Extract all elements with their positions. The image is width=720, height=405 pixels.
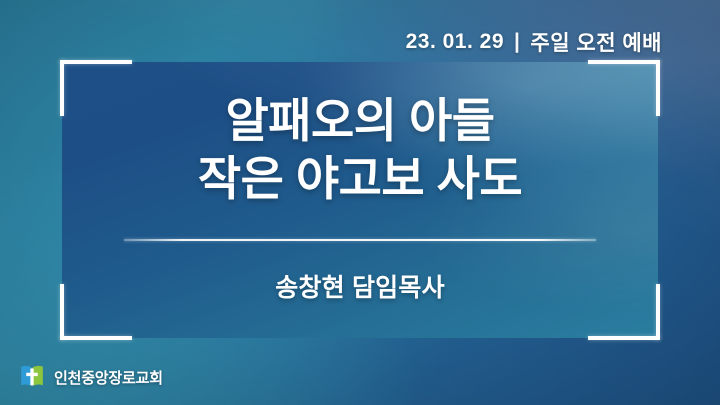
title-line-2: 작은 야고보 사도 (62, 150, 658, 208)
church-name: 인천중앙장로교회 (54, 367, 163, 388)
open-bible-cross-icon (18, 363, 46, 391)
speaker-name: 송창현 담임목사 (62, 268, 658, 304)
page-title: 알패오의 아들 작은 야고보 사도 (62, 92, 658, 209)
service-date: 23. 01. 29 (406, 30, 504, 54)
header-separator: | (514, 30, 520, 54)
service-name: 주일 오전 예배 (530, 27, 662, 57)
church-logo: 인천중앙장로교회 (18, 363, 163, 391)
header-meta: 23. 01. 29 | 주일 오전 예배 (406, 27, 662, 57)
title-line-1: 알패오의 아들 (62, 92, 658, 150)
sermon-title-slide: 23. 01. 29 | 주일 오전 예배 알패오의 아들 작은 야고보 사도 … (0, 0, 720, 405)
title-divider (124, 239, 596, 241)
